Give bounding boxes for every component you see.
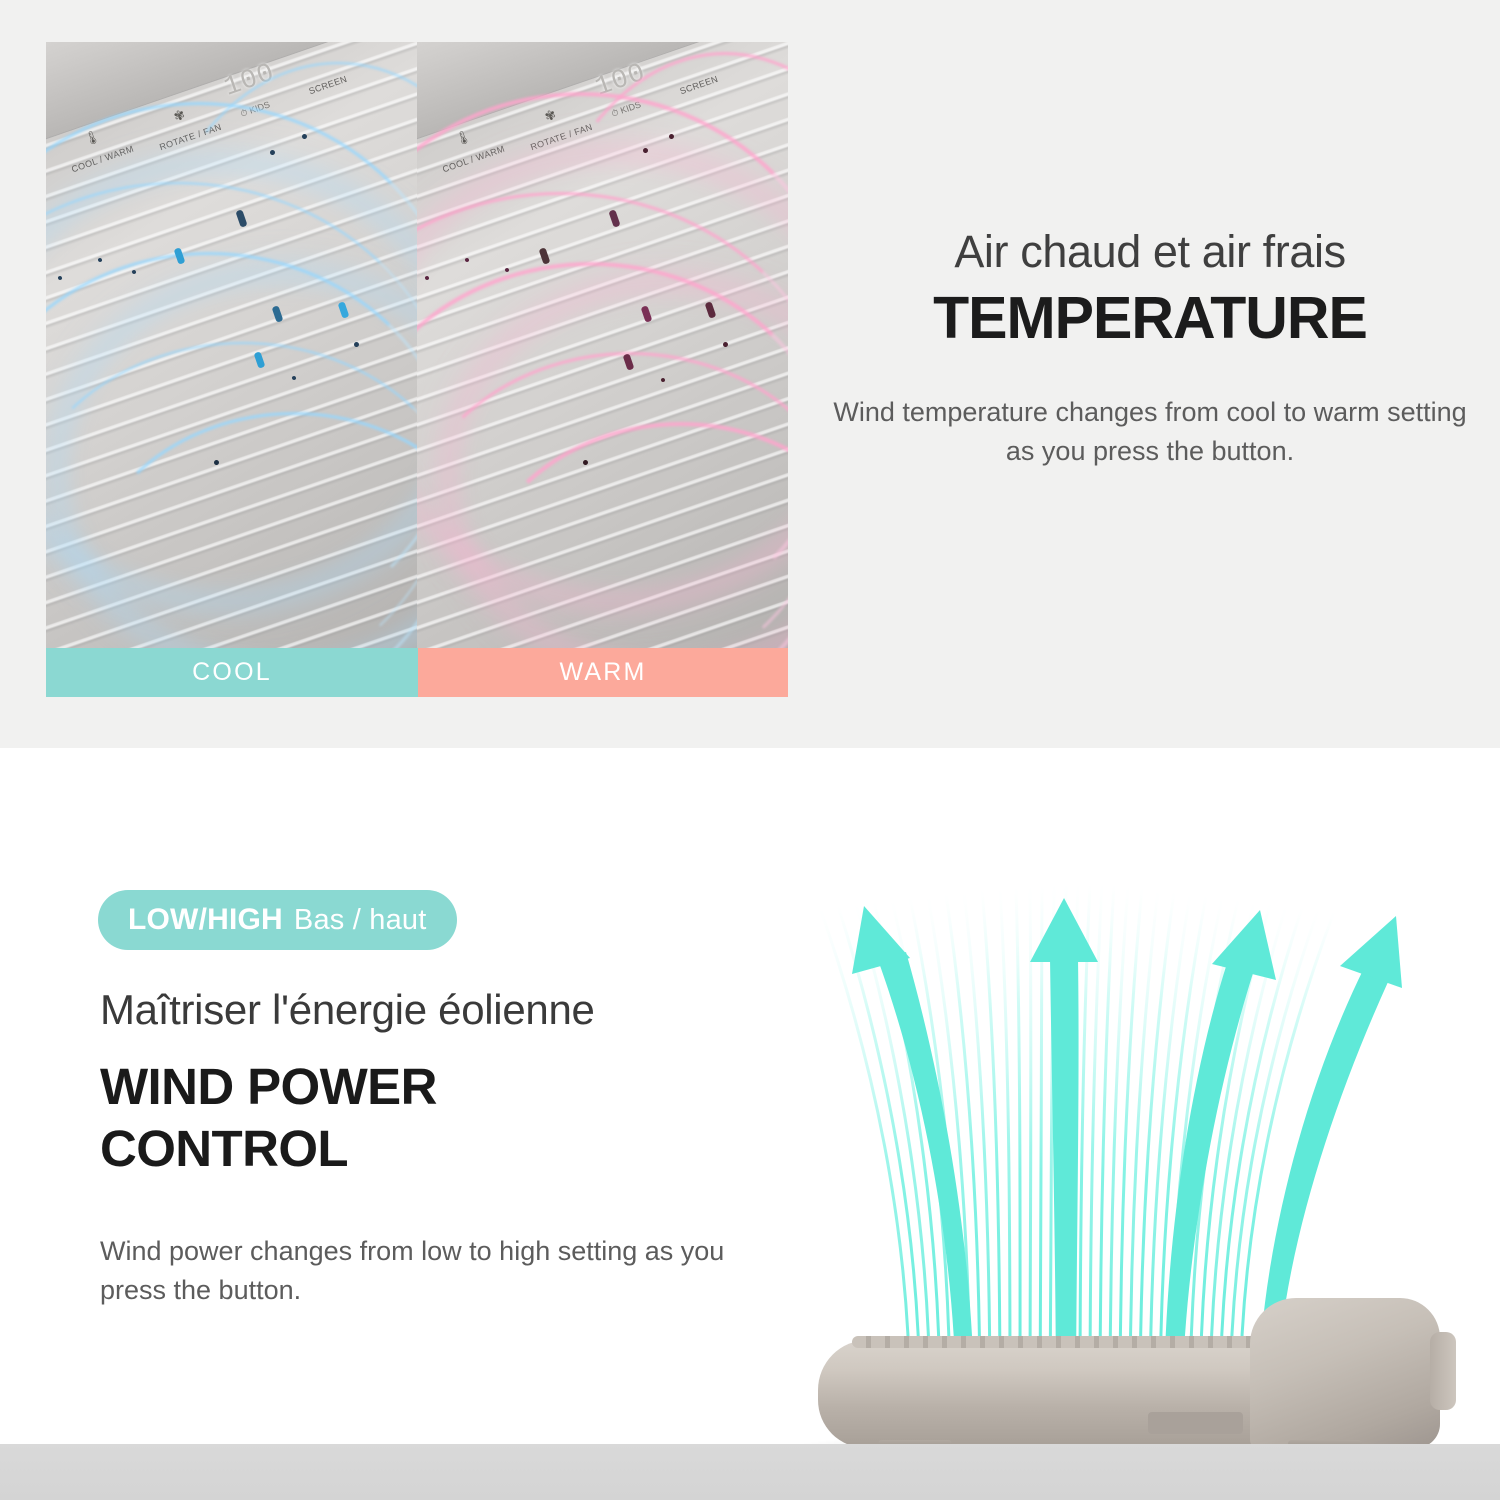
mode-band-row: COOL WARM <box>46 648 788 697</box>
device-head <box>1250 1298 1440 1448</box>
wind-power-headline: WIND POWER CONTROL <box>100 1056 760 1180</box>
wind-power-eyebrow: Maîtriser l'énergie éolienne <box>100 986 760 1034</box>
temperature-section: 🌡 COOL / WARM ✾ ROTATE / FAN 100 ⏱ KIDS … <box>0 0 1500 748</box>
wind-power-headline-line2: CONTROL <box>100 1118 760 1180</box>
wind-power-headline-line1: WIND POWER <box>100 1056 760 1118</box>
device-grille-surface <box>46 42 417 648</box>
temperature-copy-block: Air chaud et air frais TEMPERATURE Wind … <box>830 225 1470 471</box>
mode-band-cool: COOL <box>46 648 418 697</box>
temperature-subcopy: Wind temperature changes from cool to wa… <box>830 393 1470 471</box>
device-knob <box>1430 1332 1456 1410</box>
floor-surface <box>0 1444 1500 1500</box>
airflow-illustration <box>760 848 1500 1500</box>
temperature-eyebrow: Air chaud et air frais <box>830 225 1470 278</box>
wind-power-subcopy: Wind power changes from low to high sett… <box>100 1232 760 1309</box>
product-photo-pair: 🌡 COOL / WARM ✾ ROTATE / FAN 100 ⏱ KIDS … <box>46 42 788 648</box>
temperature-headline: TEMPERATURE <box>830 286 1470 351</box>
badge-label-strong: LOW/HIGH <box>128 903 283 937</box>
device-vent <box>1148 1412 1243 1434</box>
device-grille-surface <box>417 42 788 648</box>
badge-label-light: Bas / haut <box>294 904 427 937</box>
wind-power-copy-block: Maîtriser l'énergie éolienne WIND POWER … <box>100 986 760 1309</box>
fan-device-side-view <box>818 1298 1458 1448</box>
low-high-badge: LOW/HIGH Bas / haut <box>98 890 457 950</box>
mode-band-warm: WARM <box>418 648 788 697</box>
wind-power-section: LOW/HIGH Bas / haut Maîtriser l'énergie … <box>0 748 1500 1500</box>
product-photo-cool: 🌡 COOL / WARM ✾ ROTATE / FAN 100 ⏱ KIDS … <box>46 42 417 648</box>
product-photo-warm: 🌡 COOL / WARM ✾ ROTATE / FAN 100 ⏱ KIDS … <box>417 42 788 648</box>
device-outlet-grille <box>852 1336 1302 1348</box>
